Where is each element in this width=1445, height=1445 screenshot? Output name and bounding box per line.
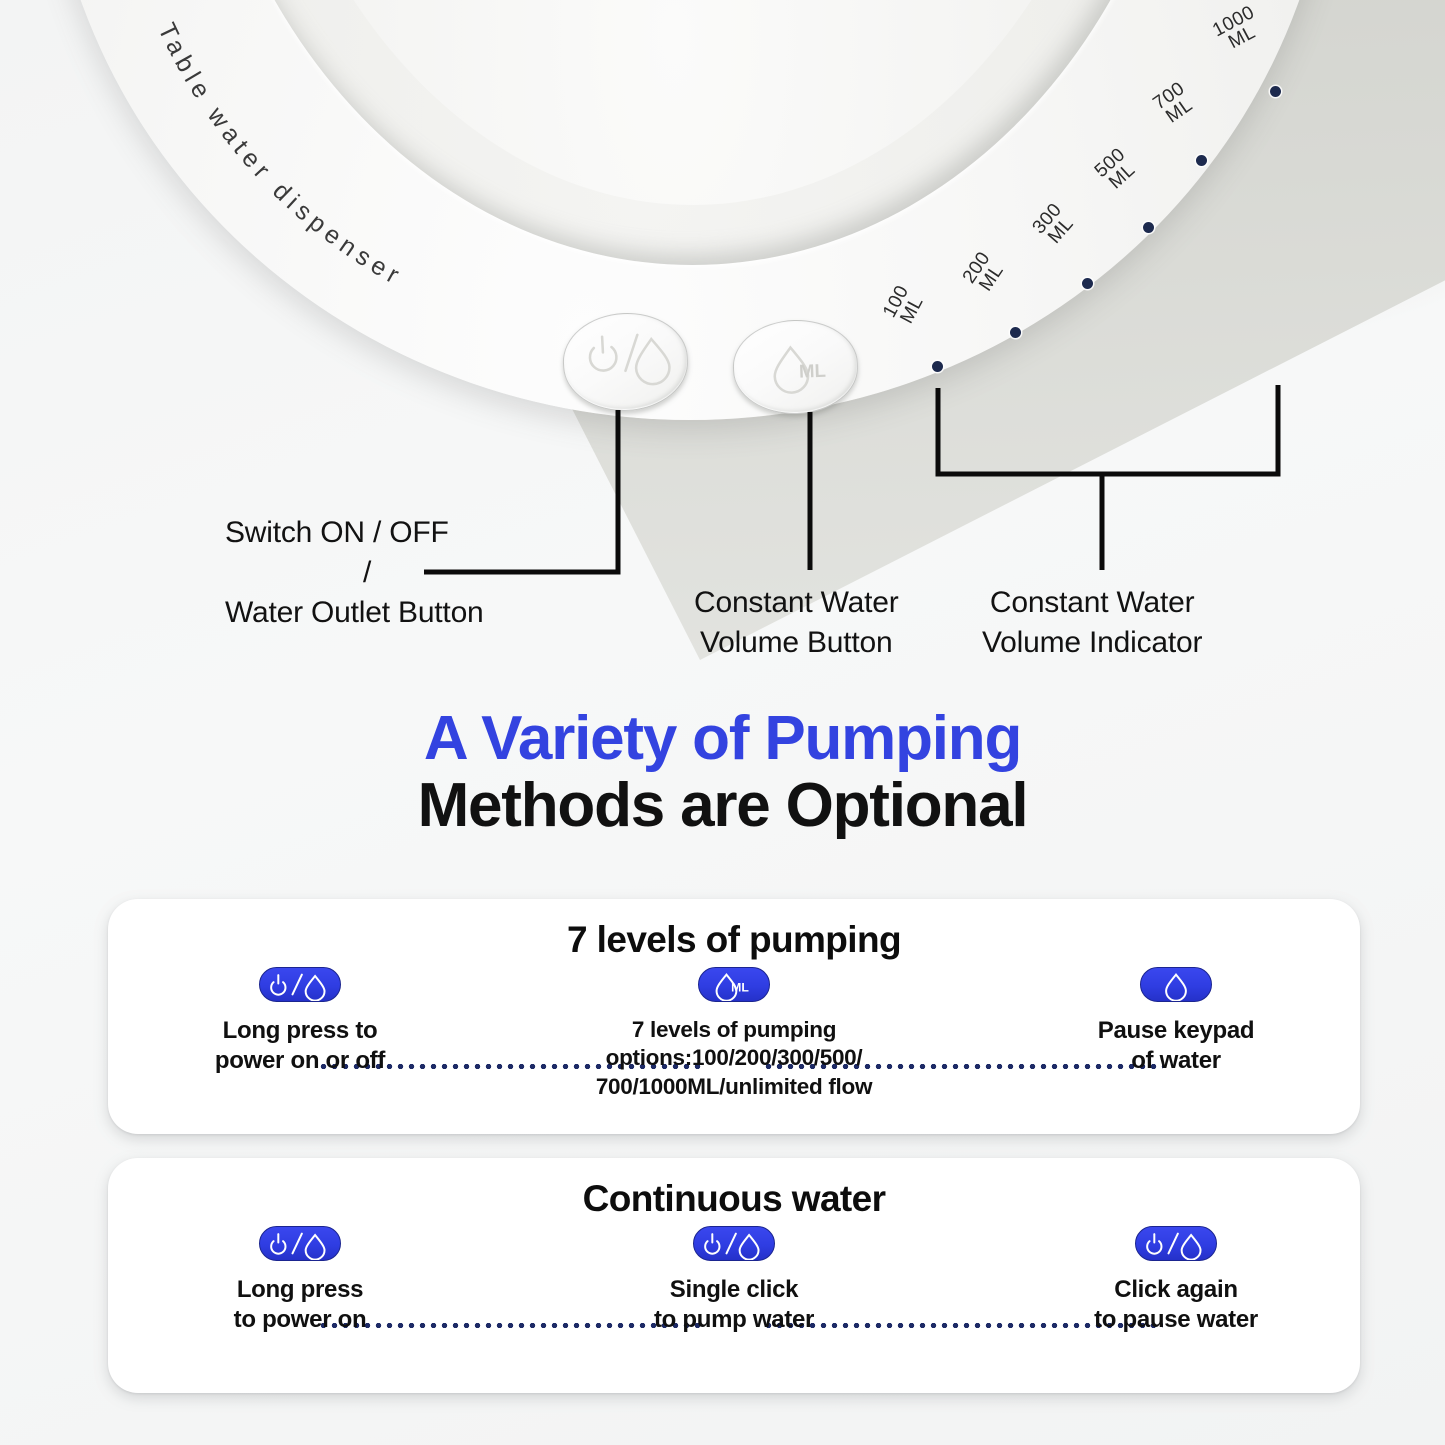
callout-power-label: Switch ON / OFF / Water Outlet Button [225, 513, 484, 633]
headline: A Variety of Pumping Methods are Optiona… [0, 706, 1445, 842]
power-water-droplet-icon [260, 1227, 340, 1260]
callout-volume-button-line2: Volume Button [694, 623, 899, 663]
droplet-ml-key[interactable]: ML [698, 967, 770, 1002]
power-water-droplet-key[interactable] [1135, 1226, 1217, 1261]
headline-line2: Methods are Optional [0, 771, 1445, 842]
step-caption-line1: Long press to [150, 1016, 450, 1046]
callout-volume-button-line1: Constant Water [694, 583, 899, 623]
step-caption-line2: to power on [150, 1305, 450, 1335]
card-steps: Long press to power on or off ML 7 level… [108, 967, 1360, 1127]
power-water-droplet-key[interactable] [259, 1226, 341, 1261]
card-steps: Long press to power on [108, 1226, 1360, 1386]
callout-power-line3: Water Outlet Button [225, 593, 484, 633]
step-caption: Long press to power on [150, 1275, 450, 1334]
callout-power-line1: Switch ON / OFF [225, 513, 484, 553]
droplet-ml-icon: ML [699, 968, 769, 1001]
pumping-levels-card: 7 levels of pumping Long pre [108, 899, 1360, 1134]
step-item: ML 7 levels of pumping options:100/200/3… [584, 967, 884, 1101]
power-water-droplet-icon [694, 1227, 774, 1260]
continuous-water-card: Continuous water Long press [108, 1158, 1360, 1393]
step-caption: Pause keypad of water [1026, 1016, 1326, 1075]
water-droplet-icon [1141, 968, 1211, 1001]
water-droplet-key[interactable] [1140, 967, 1212, 1002]
infographic-page: Table water dispenser ML [0, 0, 1445, 1445]
step-item: Click again to pause water [1026, 1226, 1326, 1334]
step-caption-line2: of water [1026, 1046, 1326, 1076]
step-item: Pause keypad of water [1026, 967, 1326, 1075]
step-caption-line3: 700/1000ML/unlimited flow [584, 1073, 884, 1101]
product-photo: Table water dispenser ML [0, 0, 1445, 700]
step-caption-line2: options:100/200/300/500/ [584, 1044, 884, 1072]
headline-line1: A Variety of Pumping [0, 706, 1445, 771]
power-water-droplet-key[interactable] [693, 1226, 775, 1261]
step-caption: Single click to pump water [584, 1275, 884, 1334]
callout-volume-indicator-line1: Constant Water [982, 583, 1202, 623]
power-water-droplet-key[interactable] [259, 967, 341, 1002]
step-caption-line1: Long press [150, 1275, 450, 1305]
step-caption-line1: Click again [1026, 1275, 1326, 1305]
step-caption-line1: Pause keypad [1026, 1016, 1326, 1046]
step-caption-line1: Single click [584, 1275, 884, 1305]
step-caption: Click again to pause water [1026, 1275, 1326, 1334]
card-title: Continuous water [108, 1158, 1360, 1220]
card-title: 7 levels of pumping [108, 899, 1360, 961]
svg-text:ML: ML [731, 981, 749, 995]
step-item: Long press to power on [150, 1226, 450, 1334]
step-caption-line1: 7 levels of pumping [584, 1016, 884, 1044]
step-caption: Long press to power on or off [150, 1016, 450, 1075]
step-item: Single click to pump water [584, 1226, 884, 1334]
step-caption: 7 levels of pumping options:100/200/300/… [584, 1016, 884, 1101]
power-water-droplet-icon [260, 968, 340, 1001]
callout-volume-indicator-label: Constant Water Volume Indicator [982, 583, 1202, 663]
step-caption-line2: to pump water [584, 1305, 884, 1335]
callout-volume-button-label: Constant Water Volume Button [694, 583, 899, 663]
step-caption-line2: to pause water [1026, 1305, 1326, 1335]
power-water-droplet-icon [1136, 1227, 1216, 1260]
step-caption-line2: power on or off [150, 1046, 450, 1076]
callout-power-line2: / [225, 553, 484, 593]
callout-volume-indicator-line2: Volume Indicator [982, 623, 1202, 663]
step-item: Long press to power on or off [150, 967, 450, 1075]
